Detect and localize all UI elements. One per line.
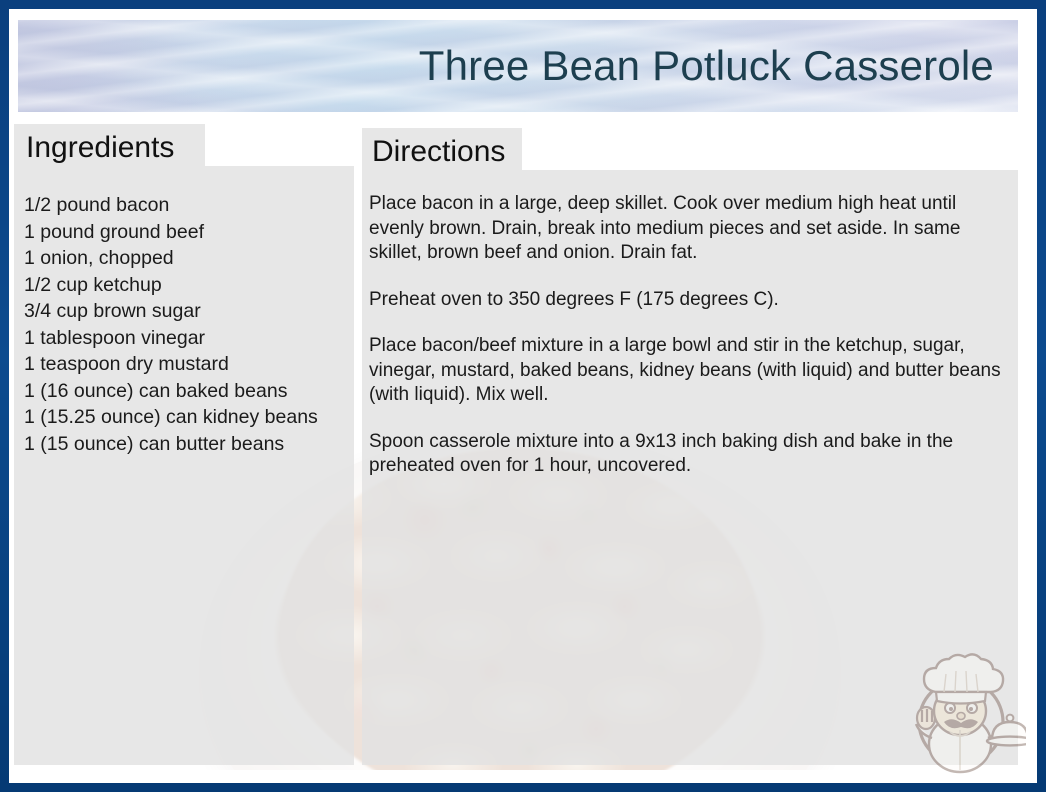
list-item: 1/2 cup ketchup [24,272,354,299]
recipe-card: Three Bean Potluck Casserole Ingredients… [0,0,1046,792]
list-item: 1 (16 ounce) can baked beans [24,378,354,405]
directions-heading: Directions [372,135,505,169]
direction-step: Spoon casserole mixture into a 9x13 inch… [369,430,1005,479]
direction-step: Place bacon in a large, deep skillet. Co… [369,192,1005,266]
page-title: Three Bean Potluck Casserole [419,42,994,90]
ingredients-heading: Ingredients [26,131,174,165]
list-item: 1 (15.25 ounce) can kidney beans [24,404,354,431]
direction-step: Preheat oven to 350 degrees F (175 degre… [369,288,1005,313]
cloche-icon [987,715,1026,746]
direction-step: Place bacon/beef mixture in a large bowl… [369,334,1005,408]
list-item: 1 pound ground beef [24,219,354,246]
chef-icon [896,646,1026,776]
list-item: 3/4 cup brown sugar [24,298,354,325]
list-item: 1 (15 ounce) can butter beans [24,431,354,458]
chef-logo-watermark [896,646,1026,776]
list-item: 1 tablespoon vinegar [24,325,354,352]
directions-list: Place bacon in a large, deep skillet. Co… [369,192,1005,501]
list-item: 1 teaspoon dry mustard [24,351,354,378]
header-banner: Three Bean Potluck Casserole [18,20,1018,112]
ingredients-list: 1/2 pound bacon 1 pound ground beef 1 on… [24,192,354,457]
list-item: 1/2 pound bacon [24,192,354,219]
list-item: 1 onion, chopped [24,245,354,272]
